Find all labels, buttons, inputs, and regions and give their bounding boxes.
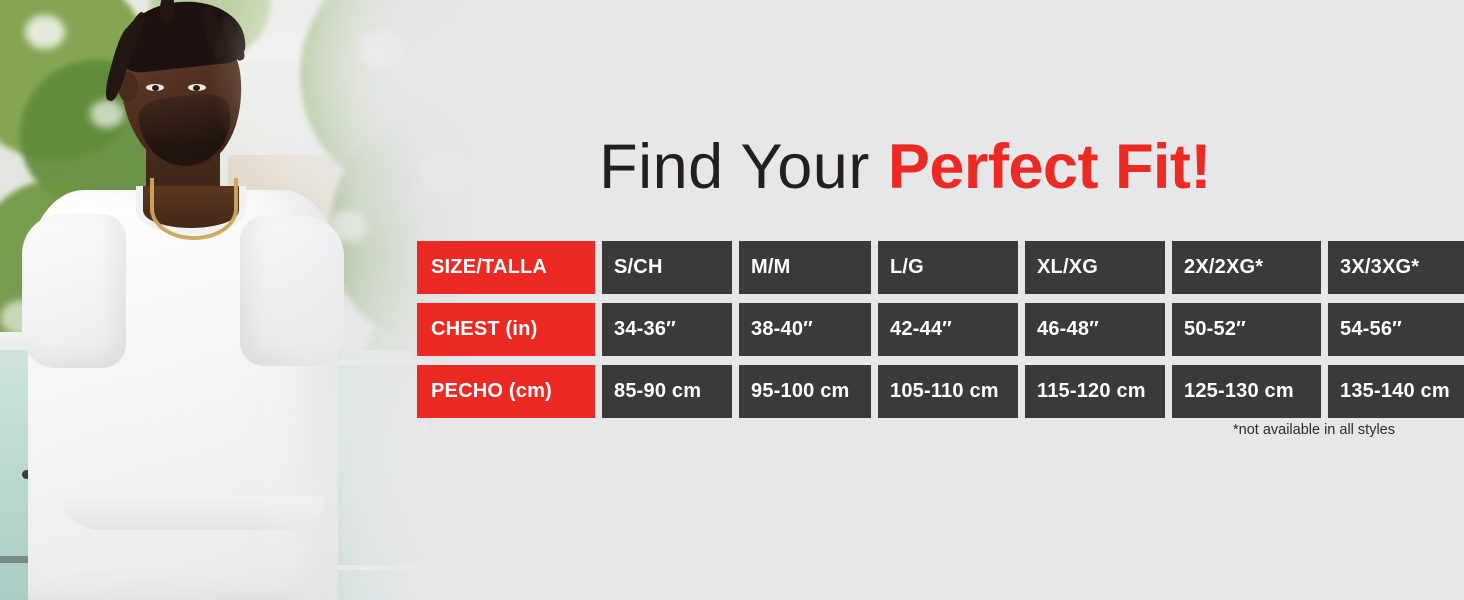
foliage-highlight <box>25 15 65 49</box>
foliage-highlight <box>90 100 124 128</box>
table-row: CHEST (in) 34-36″ 38-40″ 42-44″ 46-48″ 5… <box>417 303 1464 356</box>
cell-size-l: L/G <box>878 241 1018 294</box>
cell-size-3x: 3X/3XG* <box>1328 241 1464 294</box>
tshirt-left-sleeve <box>22 214 126 368</box>
cell-chest-in-s: 34-36″ <box>602 303 732 356</box>
model-pupil <box>193 85 200 91</box>
cell-chest-in-l: 42-44″ <box>878 303 1018 356</box>
page-title: Find Your Perfect Fit! <box>410 136 1400 199</box>
row-label-chest-cm: PECHO (cm) <box>417 365 595 418</box>
size-chart-table: SIZE/TALLA S/CH M/M L/G XL/XG 2X/2XG* 3X… <box>410 232 1464 427</box>
cell-chest-cm-l: 105-110 cm <box>878 365 1018 418</box>
row-label-chest-in: CHEST (in) <box>417 303 595 356</box>
cell-chest-in-3x: 54-56″ <box>1328 303 1464 356</box>
cell-chest-cm-3x: 135-140 cm <box>1328 365 1464 418</box>
cell-size-m: M/M <box>739 241 871 294</box>
cell-size-xl: XL/XG <box>1025 241 1165 294</box>
cell-size-s: S/CH <box>602 241 732 294</box>
cell-chest-cm-xl: 115-120 cm <box>1025 365 1165 418</box>
table-row: SIZE/TALLA S/CH M/M L/G XL/XG 2X/2XG* 3X… <box>417 241 1464 294</box>
cell-chest-cm-m: 95-100 cm <box>739 365 871 418</box>
cell-size-2x: 2X/2XG* <box>1172 241 1321 294</box>
model-pupil <box>152 85 159 91</box>
cell-chest-in-m: 38-40″ <box>739 303 871 356</box>
table-row: PECHO (cm) 85-90 cm 95-100 cm 105-110 cm… <box>417 365 1464 418</box>
page-title-plain: Find Your <box>599 132 888 202</box>
foliage-highlight <box>360 30 406 70</box>
size-chart-banner: Find Your Perfect Fit! SIZE/TALLA S/CH M… <box>0 0 1464 600</box>
cell-chest-in-2x: 50-52″ <box>1172 303 1321 356</box>
cell-chest-in-xl: 46-48″ <box>1025 303 1165 356</box>
footnote: *not available in all styles <box>900 422 1395 438</box>
cell-chest-cm-s: 85-90 cm <box>602 365 732 418</box>
tshirt-right-sleeve <box>240 216 344 366</box>
tshirt-hem <box>64 496 324 530</box>
cell-chest-cm-2x: 125-130 cm <box>1172 365 1321 418</box>
page-title-accent: Perfect Fit! <box>888 132 1211 202</box>
gold-chain-necklace <box>150 178 238 240</box>
row-label-size: SIZE/TALLA <box>417 241 595 294</box>
